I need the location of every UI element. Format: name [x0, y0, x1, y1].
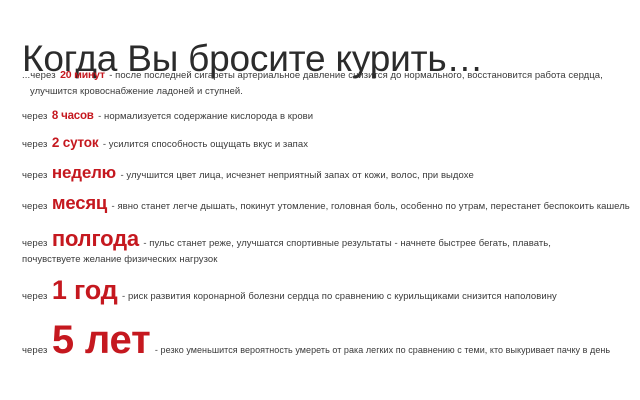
timeline-entry-5y: через 5 лет - резко уменьшится вероятнос… [22, 320, 610, 360]
entry-description: резко уменьшится вероятность умереть от … [161, 345, 611, 355]
entry-description: улучшится цвет лица, исчезнет неприятный… [126, 170, 473, 181]
timeline-entry-6m: через полгода - пульс станет реже, улучш… [22, 228, 551, 265]
entry-description: пульс станет реже, улучшатся спортивные … [149, 238, 551, 249]
entry-prefix: через [22, 111, 47, 122]
entry-prefix: через [22, 170, 47, 181]
entry-description: усилится способность ощущать вкус и запа… [109, 139, 308, 150]
timeline-entry-line: через 2 суток - усилится способность ощу… [22, 135, 308, 151]
entry-period: 1 год [52, 275, 118, 305]
entry-continuation: улучшится кровоснабжение ладоней и ступн… [22, 86, 603, 97]
timeline-entry-8h: через 8 часов - нормализуется содержание… [22, 107, 313, 123]
entry-prefix: через [22, 291, 47, 302]
entry-period: 5 лет [52, 318, 151, 362]
timeline-entry-2d: через 2 суток - усилится способность ощу… [22, 135, 308, 151]
entry-period: 2 суток [52, 135, 98, 150]
entry-period: 8 часов [52, 110, 94, 122]
entry-description: риск развития коронарной болезни сердца … [128, 291, 557, 302]
entry-period: неделю [52, 163, 116, 182]
entry-prefix: через [22, 238, 47, 249]
poster-canvas: Когда Вы бросите курить… ...через 20 мин… [0, 0, 640, 400]
entry-description: после последней сигареты артериальное да… [115, 70, 603, 81]
entry-period: 20 минут [60, 69, 105, 81]
timeline-entry-line: через полгода - пульс станет реже, улучш… [22, 228, 551, 250]
entry-continuation: почувствуете желание физических нагрузок [22, 254, 551, 265]
entry-period: полгода [52, 226, 139, 251]
timeline-entry-1y: через 1 год - риск развития коронарной б… [22, 277, 557, 304]
timeline-entry-line: через неделю - улучшится цвет лица, исче… [22, 164, 474, 182]
entry-prefix: через [22, 201, 47, 212]
timeline-entry-line: через 5 лет - резко уменьшится вероятнос… [22, 320, 610, 360]
entry-prefix: через [22, 345, 47, 356]
timeline-entry-1m: через месяц - явно станет легче дышать, … [22, 194, 630, 213]
entry-description: явно станет легче дышать, покинут утомле… [117, 201, 629, 212]
timeline-entry-line: через 8 часов - нормализуется содержание… [22, 107, 313, 123]
entry-prefix: ...через [22, 70, 56, 81]
entry-prefix: через [22, 139, 47, 150]
entry-description: нормализуется содержание кислорода в кро… [104, 111, 313, 122]
timeline-entry-line: через 1 год - риск развития коронарной б… [22, 277, 557, 304]
timeline-entry-line: через месяц - явно станет легче дышать, … [22, 194, 630, 213]
entry-period: месяц [52, 192, 107, 213]
timeline-entry-20min: ...через 20 минут - после последней сига… [22, 66, 603, 97]
timeline-entry-1w: через неделю - улучшится цвет лица, исче… [22, 164, 474, 182]
timeline-entry-line: ...через 20 минут - после последней сига… [22, 66, 603, 82]
